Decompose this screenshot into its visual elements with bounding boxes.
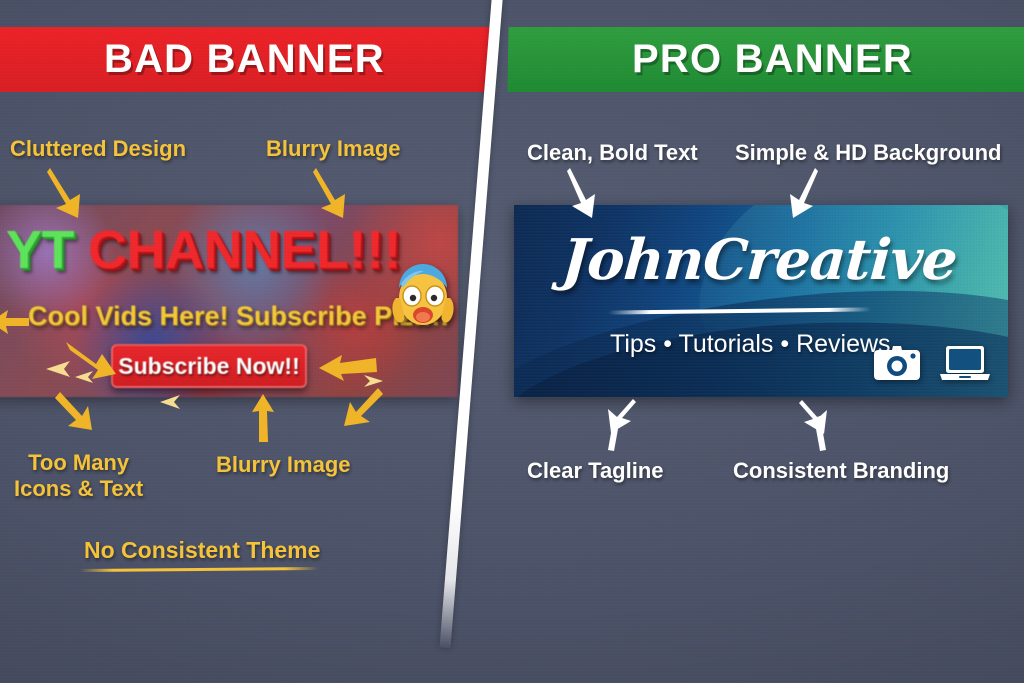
bad-banner-title: YTCHANNEL!!! bbox=[6, 219, 401, 281]
no-consistent-theme-underline bbox=[80, 567, 318, 572]
subscribe-now-button-label: Subscribe Now!! bbox=[118, 353, 299, 380]
arrow-blurry-image-top bbox=[310, 166, 352, 222]
arrow-edge-left bbox=[0, 306, 30, 338]
annotation-blurry-image-top: Blurry Image bbox=[266, 136, 401, 162]
arrow-consistent-branding bbox=[796, 398, 832, 457]
annotation-simple-hd-background: Simple & HD Background bbox=[735, 140, 1001, 166]
annotation-clear-tagline: Clear Tagline bbox=[527, 458, 664, 484]
annotation-too-many-icons-text-line1: Too Many bbox=[14, 450, 143, 476]
arrow-cluttered-design bbox=[44, 166, 88, 222]
annotation-no-consistent-theme: No Consistent Theme bbox=[84, 537, 320, 564]
annotation-too-many-icons-text: Too Many Icons & Text bbox=[14, 450, 143, 501]
pro-banner-tagline: Tips • Tutorials • Reviews bbox=[610, 330, 891, 359]
arrow-too-many-icons-text bbox=[52, 390, 94, 442]
laptop-icon bbox=[940, 345, 990, 386]
subscribe-now-button[interactable]: Subscribe Now!! bbox=[111, 344, 307, 388]
arrow-clear-tagline bbox=[604, 398, 640, 457]
arrow-small-pale-4 bbox=[158, 394, 182, 410]
bad-banner-subtitle: Cool Vids Here! Subscribe Plz!!!! bbox=[28, 301, 449, 332]
bad-banner-header-label: BAD BANNER bbox=[104, 37, 385, 82]
pro-banner-image: JohnCreative Tips • Tutorials • Reviews bbox=[514, 205, 1008, 397]
annotation-consistent-branding: Consistent Branding bbox=[733, 458, 949, 484]
bad-banner-header: BAD BANNER bbox=[0, 27, 495, 92]
arrow-small-pale-1 bbox=[44, 360, 72, 378]
screaming-face-emoji bbox=[390, 262, 456, 336]
bad-banner-title-channel: CHANNEL!!! bbox=[88, 220, 401, 280]
annotation-too-many-icons-text-line2: Icons & Text bbox=[14, 476, 143, 502]
comparison-infographic: BAD BANNER PRO BANNER Cluttered Design B… bbox=[0, 0, 1024, 683]
pro-banner-content: JohnCreative Tips • Tutorials • Reviews bbox=[514, 205, 1008, 397]
arrow-small-pale-2 bbox=[74, 370, 94, 384]
annotation-blurry-image-bottom: Blurry Image bbox=[216, 452, 351, 478]
pro-banner-header-label: PRO BANNER bbox=[632, 37, 913, 82]
camera-icon bbox=[874, 345, 920, 386]
arrow-clean-bold-text bbox=[566, 166, 600, 225]
pro-banner-icon-row bbox=[874, 345, 990, 386]
pro-banner-brand-name: JohnCreative bbox=[560, 227, 959, 293]
pro-banner-header: PRO BANNER bbox=[507, 27, 1024, 92]
arrow-simple-hd-background bbox=[785, 166, 821, 225]
arrow-blurry-image-bottom bbox=[250, 392, 276, 442]
annotation-cluttered-design: Cluttered Design bbox=[10, 136, 186, 162]
pro-banner-brand-underline bbox=[608, 307, 871, 314]
bad-banner-title-yt: YT bbox=[6, 220, 74, 280]
annotation-clean-bold-text: Clean, Bold Text bbox=[527, 140, 698, 166]
arrow-bottom-right bbox=[340, 386, 386, 440]
